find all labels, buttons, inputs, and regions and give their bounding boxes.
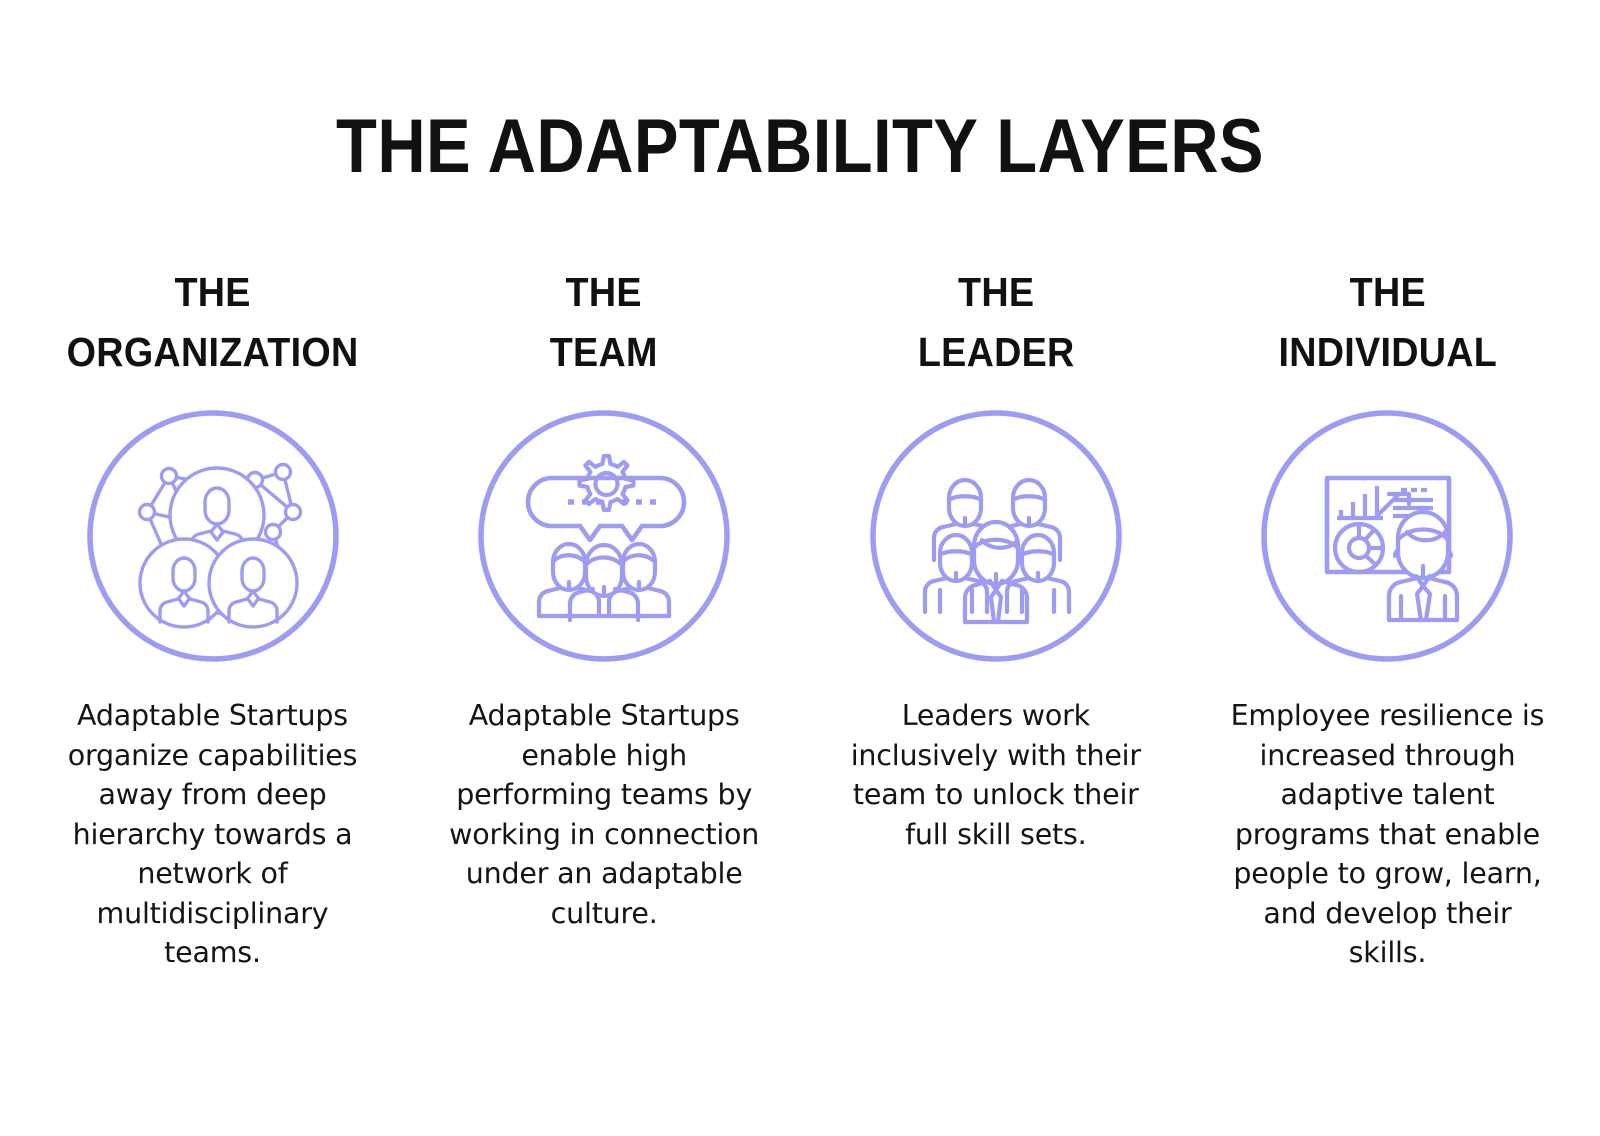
- column-heading-line2: LEADER: [917, 322, 1074, 382]
- column-heading-individual: THE INDIVIDUAL: [1278, 262, 1497, 382]
- column-heading-line2: ORGANIZATION: [67, 322, 359, 382]
- column-heading-team: THE TEAM: [550, 262, 658, 382]
- layer-columns: THE ORGANIZATION: [30, 262, 1570, 973]
- column-body-individual: Employee resilience is increased through…: [1228, 696, 1546, 973]
- column-body-organization: Adaptable Startups organize capabilities…: [53, 696, 373, 973]
- column-heading-leader: THE LEADER: [917, 262, 1074, 382]
- column-heading-line1: THE: [174, 269, 250, 315]
- network-people-icon: [87, 410, 339, 662]
- team-speech-gear-icon: [478, 410, 730, 662]
- layer-column-individual: THE INDIVIDUAL: [1205, 262, 1570, 973]
- layer-column-leader: THE LEADER: [813, 262, 1178, 854]
- column-heading-organization: THE ORGANIZATION: [67, 262, 359, 382]
- column-body-leader: Leaders work inclusively with their team…: [840, 696, 1152, 854]
- layer-column-team: THE TEAM: [422, 262, 787, 933]
- infographic-page: THE ADAPTABILITY LAYERS THE ORGANIZATION: [0, 0, 1600, 1136]
- column-heading-line1: THE: [1349, 269, 1425, 315]
- leader-group-icon: [870, 410, 1122, 662]
- column-body-team: Adaptable Startups enable high performin…: [449, 696, 759, 933]
- column-heading-line2: TEAM: [550, 322, 658, 382]
- page-title: THE ADAPTABILITY LAYERS: [96, 104, 1504, 190]
- layer-column-organization: THE ORGANIZATION: [30, 262, 395, 973]
- column-heading-line1: THE: [958, 269, 1034, 315]
- column-heading-line2: INDIVIDUAL: [1278, 322, 1497, 382]
- column-heading-line1: THE: [566, 269, 642, 315]
- presentation-person-icon: [1261, 410, 1513, 662]
